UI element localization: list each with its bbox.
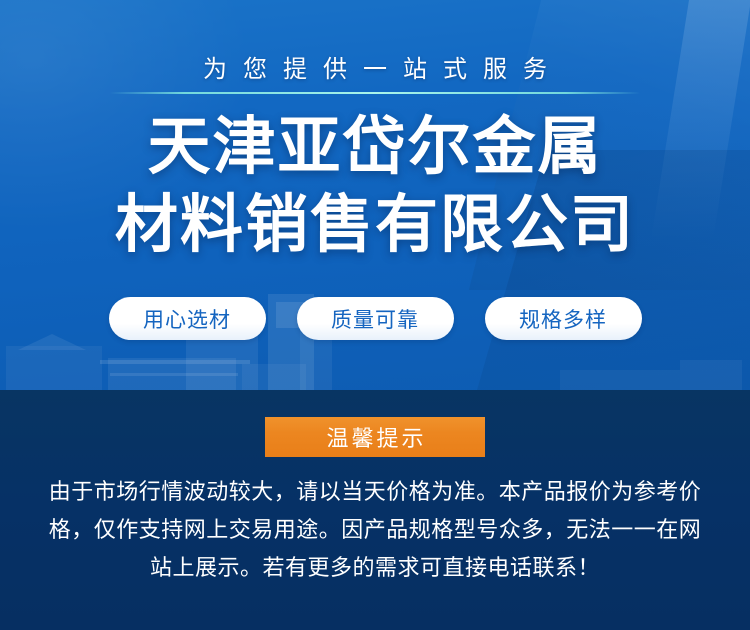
company-name-line-2: 材料销售有限公司 — [0, 186, 750, 264]
feature-pill-list: 用心选材 质量可靠 规格多样 — [0, 297, 750, 340]
feature-pill-label: 质量可靠 — [331, 304, 419, 334]
feature-pill-selected-materials[interactable]: 用心选材 — [109, 297, 266, 340]
feature-pill-label: 规格多样 — [519, 304, 607, 334]
hero-tagline: 为您提供一站式服务 — [0, 54, 750, 86]
notice-body-line-1: 由于市场行情波动较大，请以当天价格为准。本产品报价为参考价 — [26, 473, 724, 511]
background-beam-shape — [110, 373, 238, 376]
feature-pill-label: 用心选材 — [143, 304, 231, 334]
company-name: 天津亚岱尔金属 材料销售有限公司 — [0, 108, 750, 264]
notice-body-line-2: 格，仅作支持网上交易用途。因产品规格型号众多，无法一一在网 — [26, 511, 724, 549]
notice-banner: 温馨提示 — [265, 417, 485, 457]
background-building-silhouette — [680, 360, 742, 390]
background-building-silhouette — [560, 370, 680, 390]
background-building-silhouette — [6, 346, 102, 390]
notice-banner-label: 温馨提示 — [323, 421, 426, 453]
tagline-divider — [110, 92, 640, 94]
promo-banner-page: 为您提供一站式服务 天津亚岱尔金属 材料销售有限公司 用心选材 质量可靠 规格多… — [0, 0, 750, 630]
background-building-silhouette — [242, 364, 306, 390]
notice-body-line-3: 站上展示。若有更多的需求可直接电话联系！ — [26, 549, 724, 587]
background-beam-shape — [100, 360, 250, 364]
feature-pill-varied-specs[interactable]: 规格多样 — [485, 297, 642, 340]
hero-section: 为您提供一站式服务 天津亚岱尔金属 材料销售有限公司 用心选材 质量可靠 规格多… — [0, 0, 750, 390]
feature-pill-reliable-quality[interactable]: 质量可靠 — [297, 297, 454, 340]
company-name-line-1: 天津亚岱尔金属 — [0, 108, 750, 186]
notice-body: 由于市场行情波动较大，请以当天价格为准。本产品报价为参考价 格，仅作支持网上交易… — [26, 473, 724, 587]
